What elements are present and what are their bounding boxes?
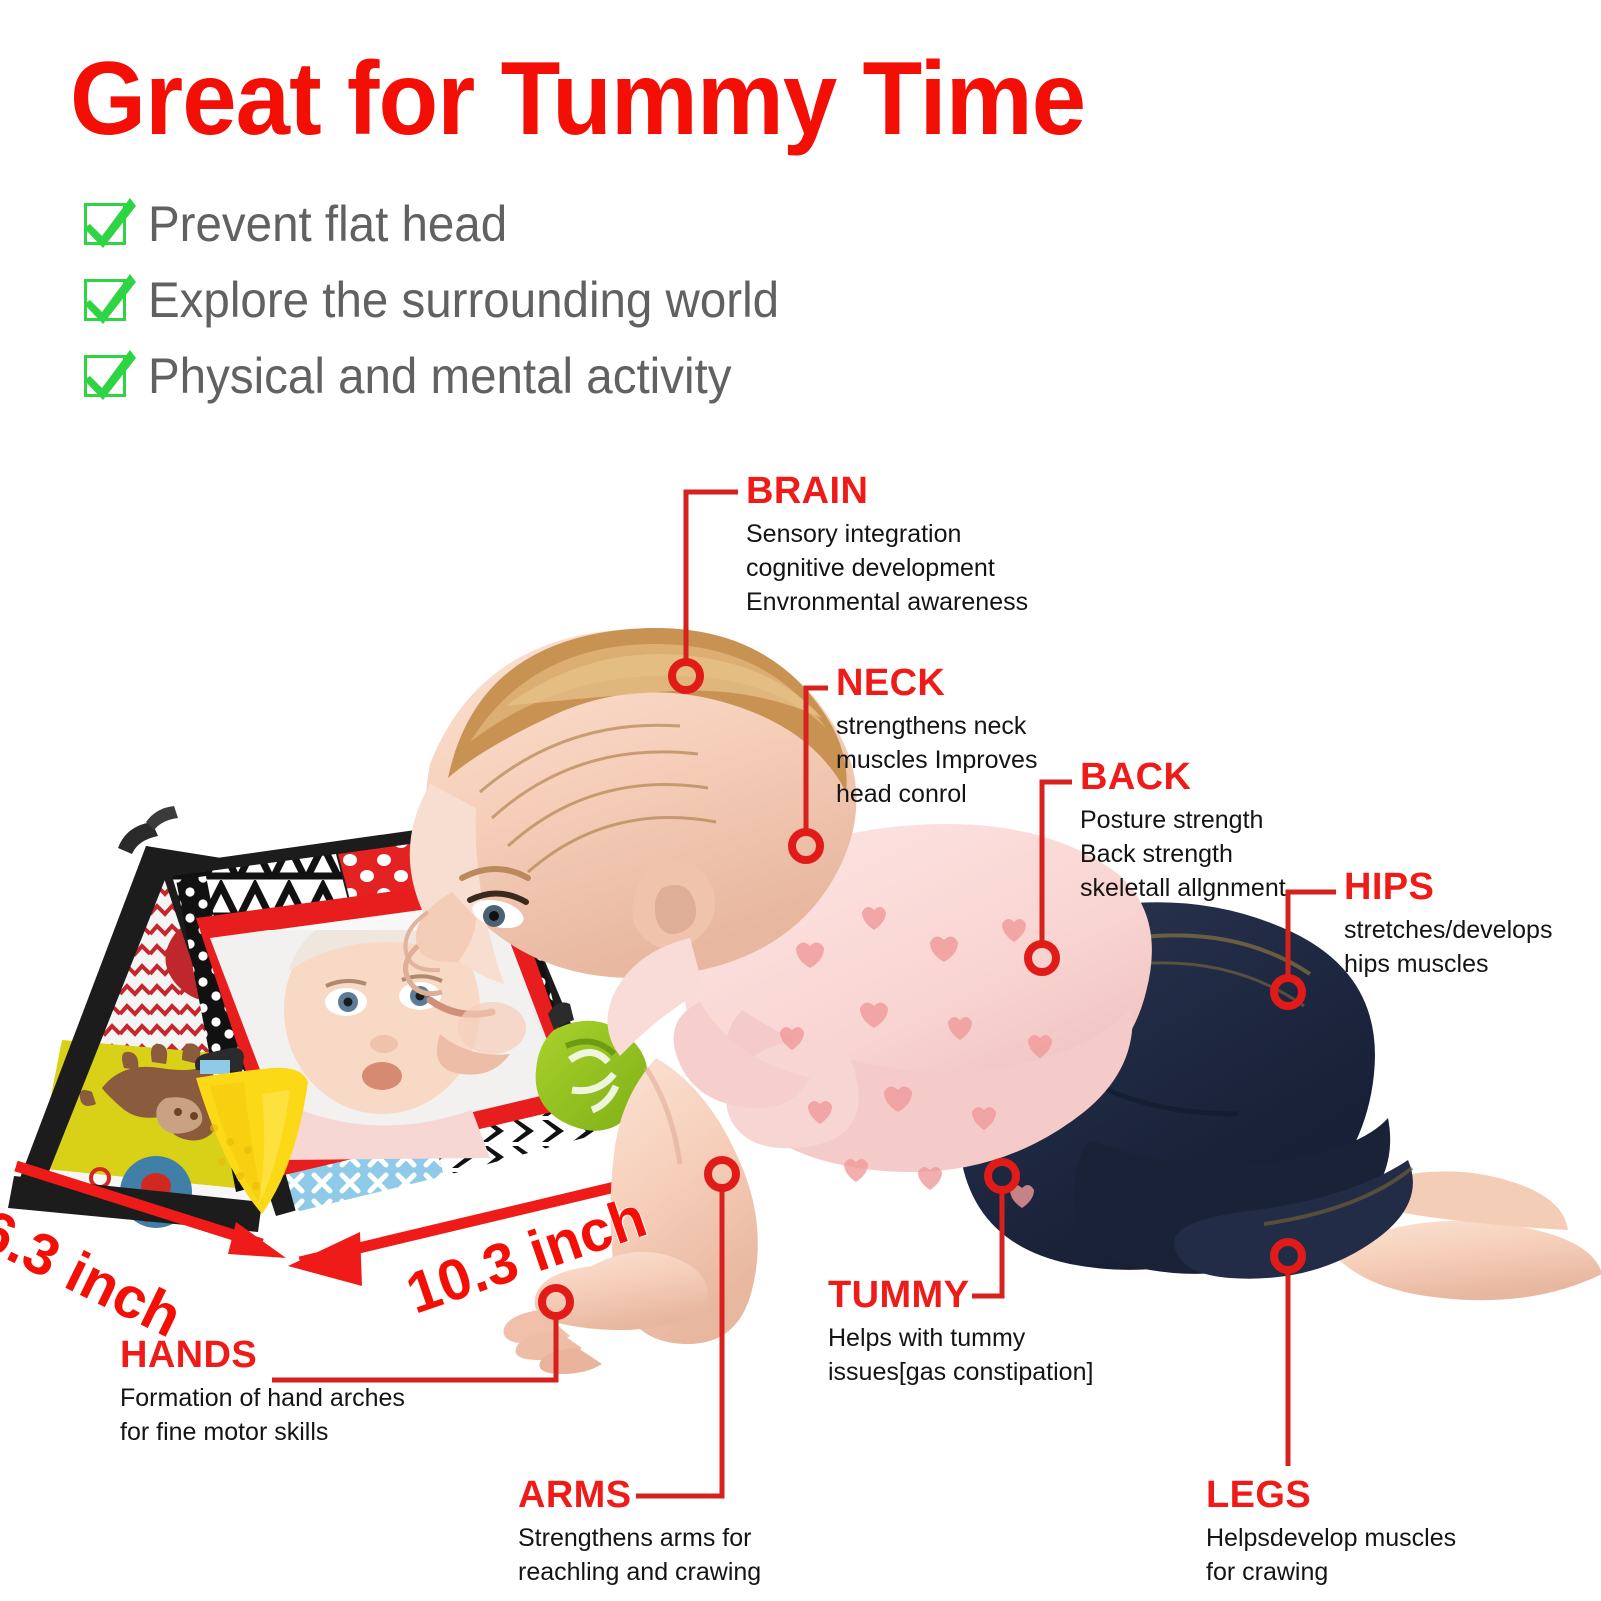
callout-body: Posture strength Back strength skeletall… bbox=[1080, 803, 1286, 905]
callout-line: Strengthens arms for bbox=[518, 1521, 761, 1555]
callout-line: Back strength bbox=[1080, 837, 1286, 871]
marker-legs bbox=[1274, 1242, 1302, 1270]
callout-title: BRAIN bbox=[746, 472, 1028, 510]
marker-hips bbox=[1274, 978, 1302, 1006]
callout-arms: ARMS Strengthens arms for reachling and … bbox=[518, 1476, 761, 1589]
callout-line: Posture strength bbox=[1080, 803, 1286, 837]
callout-line: muscles Improves bbox=[836, 743, 1037, 777]
callout-body: strengthens neck muscles Improves head c… bbox=[836, 709, 1037, 811]
callout-title: NECK bbox=[836, 664, 1037, 702]
callout-line: issues[gas constipation] bbox=[828, 1355, 1093, 1389]
infographic-page: Great for Tummy Time Prevent flat head E… bbox=[0, 0, 1601, 1601]
callout-body: Helps with tummy issues[gas constipation… bbox=[828, 1321, 1093, 1389]
callout-line: hips muscles bbox=[1344, 947, 1552, 981]
callout-hands: HANDS Formation of hand arches for fine … bbox=[120, 1336, 405, 1449]
callout-line: Formation of hand arches bbox=[120, 1381, 405, 1415]
callout-body: Sensory integration cognitive developmen… bbox=[746, 517, 1028, 619]
marker-neck bbox=[792, 832, 820, 860]
marker-arms bbox=[708, 1160, 736, 1188]
callout-body: Strengthens arms for reachling and crawi… bbox=[518, 1521, 761, 1589]
callout-line: for crawing bbox=[1206, 1555, 1456, 1589]
callout-title: LEGS bbox=[1206, 1476, 1456, 1514]
callout-line: for fine motor skills bbox=[120, 1415, 405, 1449]
callout-hips: HIPS stretches/develops hips muscles bbox=[1344, 868, 1552, 981]
callout-title: TUMMY bbox=[828, 1276, 1093, 1314]
callout-body: Helpsdevelop muscles for crawing bbox=[1206, 1521, 1456, 1589]
callout-back: BACK Posture strength Back strength skel… bbox=[1080, 758, 1286, 905]
callout-line: strengthens neck bbox=[836, 709, 1037, 743]
callout-brain: BRAIN Sensory integration cognitive deve… bbox=[746, 472, 1028, 619]
callout-tummy: TUMMY Helps with tummy issues[gas consti… bbox=[828, 1276, 1093, 1389]
callout-line: skeletall allgnment bbox=[1080, 871, 1286, 905]
callout-line: Helps with tummy bbox=[828, 1321, 1093, 1355]
callout-body: stretches/develops hips muscles bbox=[1344, 913, 1552, 981]
marker-tummy bbox=[988, 1162, 1016, 1190]
callout-title: HIPS bbox=[1344, 868, 1552, 906]
callout-line: head conrol bbox=[836, 777, 1037, 811]
callout-neck: NECK strengthens neck muscles Improves h… bbox=[836, 664, 1037, 811]
callout-line: cognitive development bbox=[746, 551, 1028, 585]
callout-line: Envronmental awareness bbox=[746, 585, 1028, 619]
callout-line: Sensory integration bbox=[746, 517, 1028, 551]
callout-line: Helpsdevelop muscles bbox=[1206, 1521, 1456, 1555]
callout-title: BACK bbox=[1080, 758, 1286, 796]
callout-title: ARMS bbox=[518, 1476, 761, 1514]
callout-line: reachling and crawing bbox=[518, 1555, 761, 1589]
marker-brain bbox=[672, 662, 700, 690]
marker-back bbox=[1028, 944, 1056, 972]
callout-line: stretches/develops bbox=[1344, 913, 1552, 947]
callout-body: Formation of hand arches for fine motor … bbox=[120, 1381, 405, 1449]
marker-hands bbox=[542, 1288, 570, 1316]
callout-legs: LEGS Helpsdevelop muscles for crawing bbox=[1206, 1476, 1456, 1589]
